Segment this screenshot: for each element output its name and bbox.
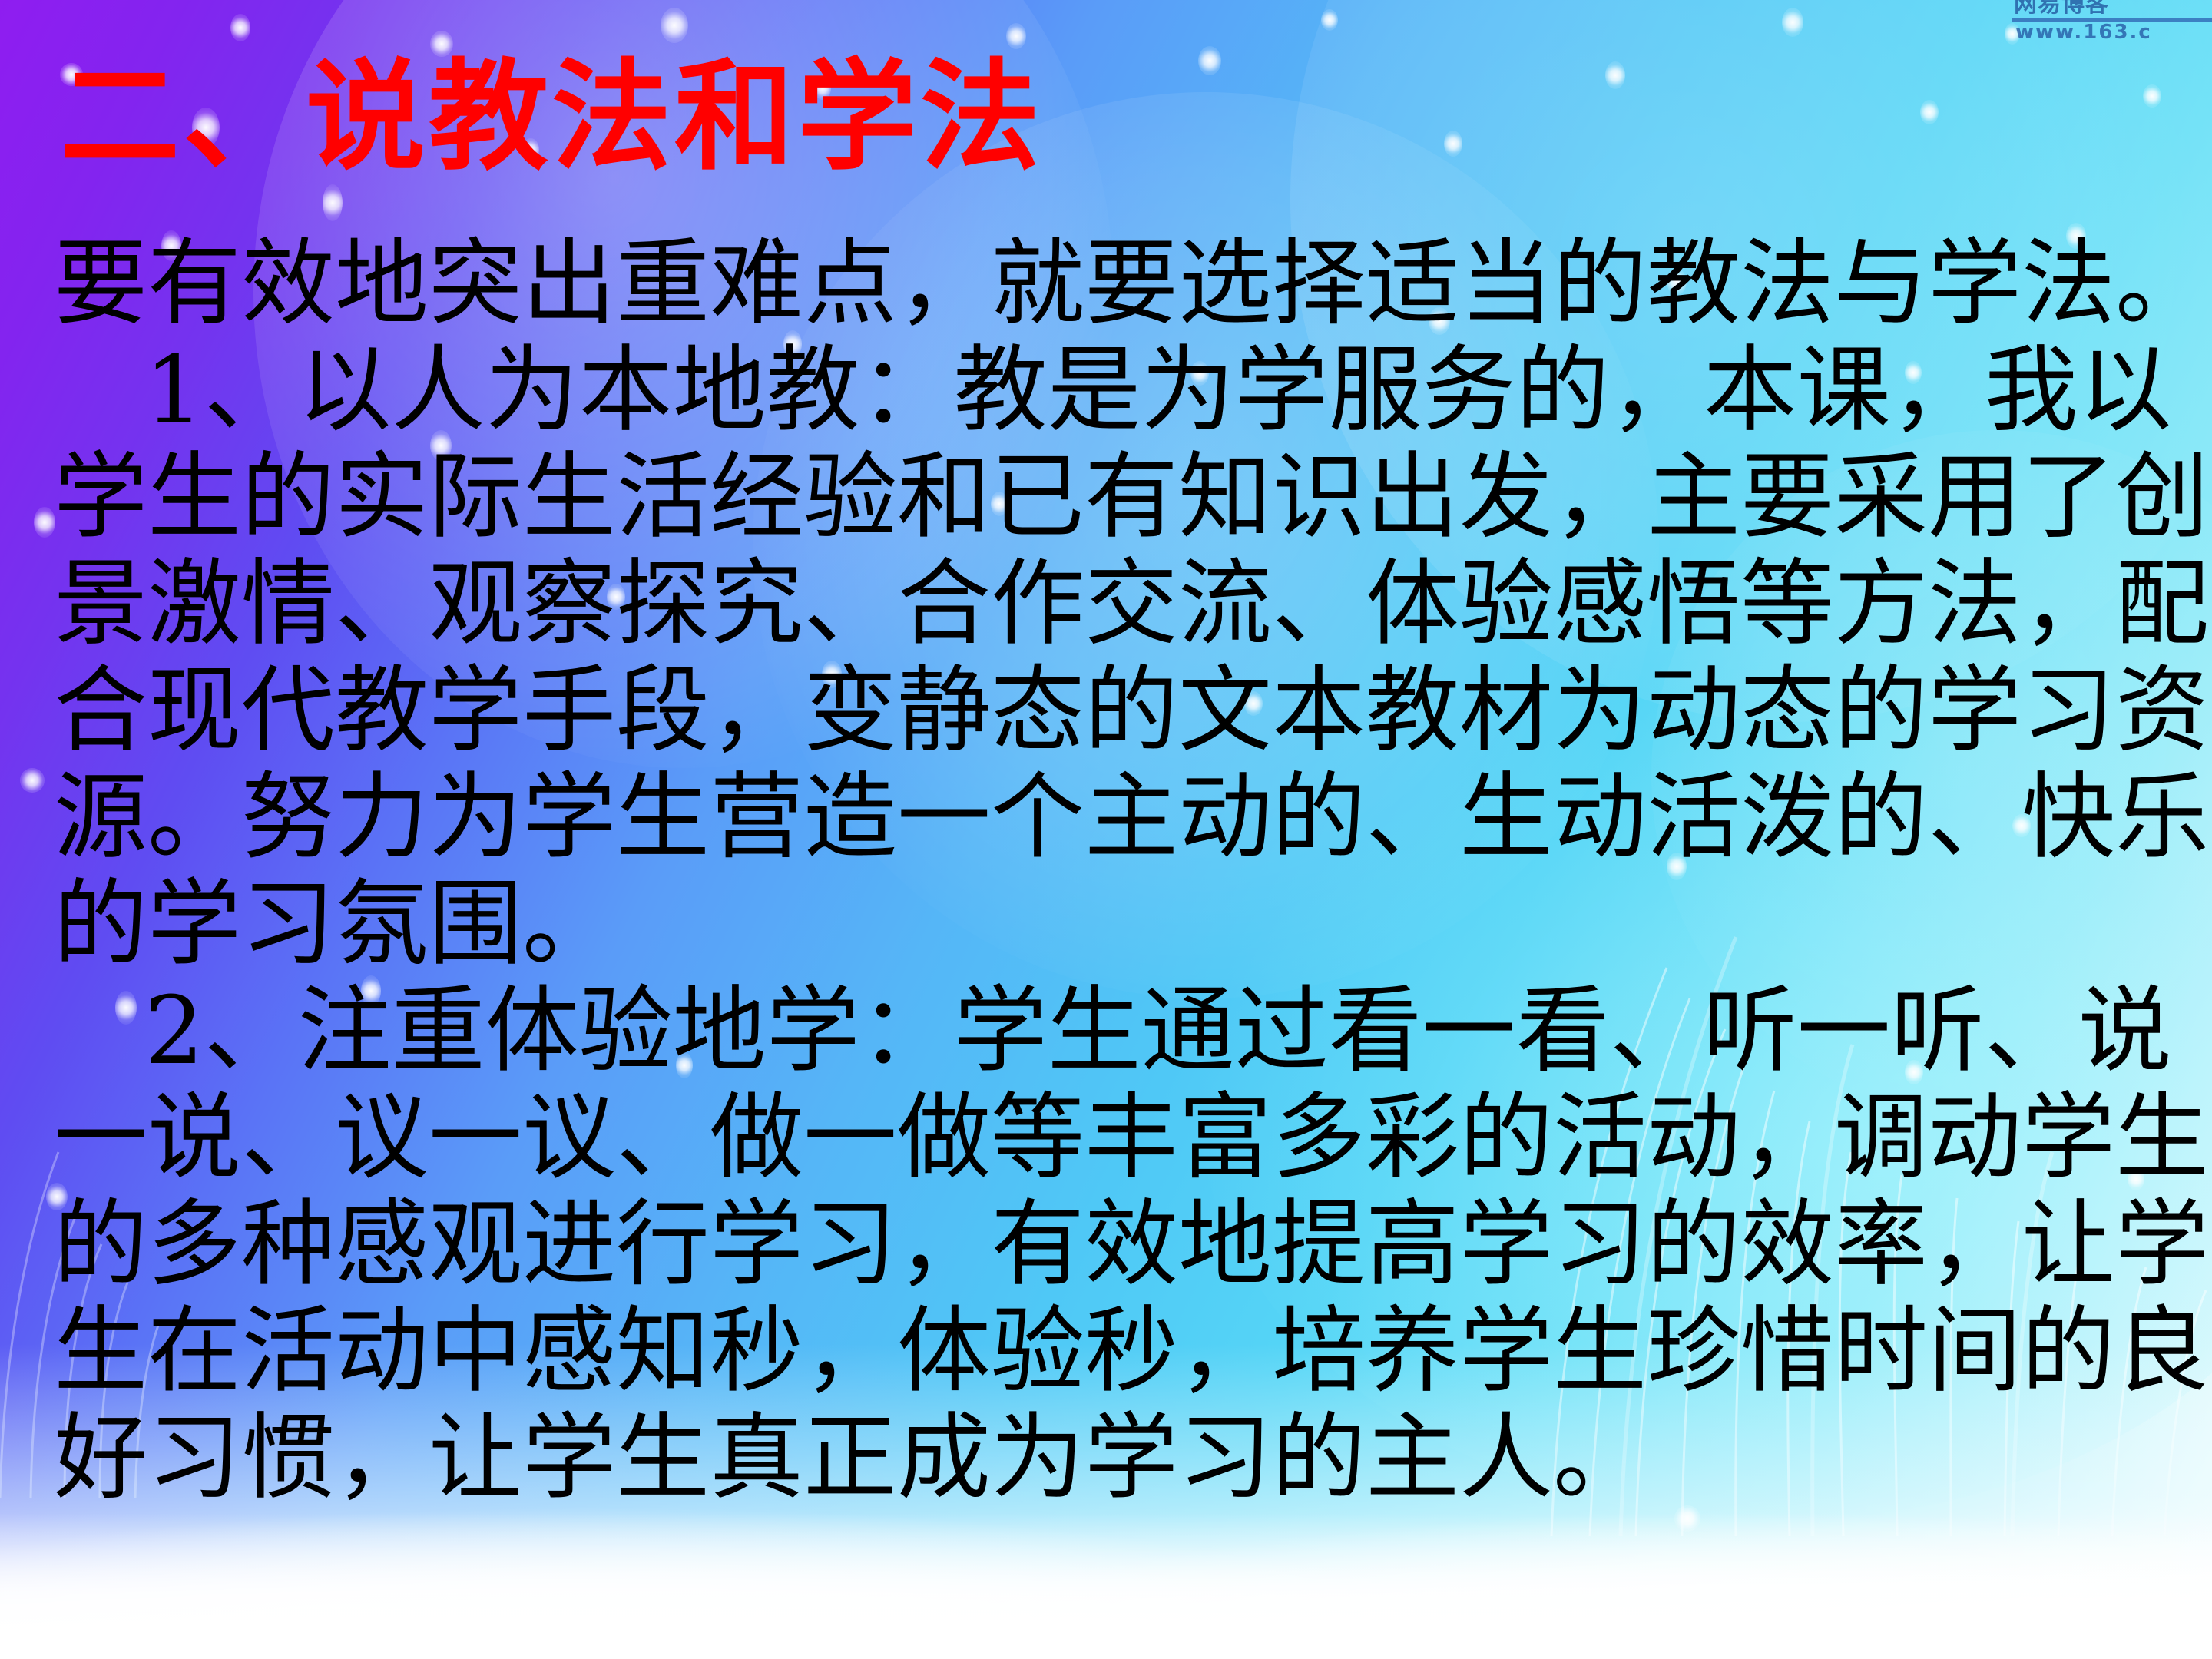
slide-body: 要有效地突出重难点，就要选择适当的教法与学法。1、以人为本地教：教是为学服务的，…	[54, 230, 2158, 1512]
body-line: 要有效地突出重难点，就要选择适当的教法与学法。	[54, 230, 2158, 337]
body-line: 学生的实际生活经验和已有知识出发，主要采用了创	[54, 444, 2158, 551]
body-line: 源。努力为学生营造一个主动的、生动活泼的、快乐	[54, 764, 2158, 871]
body-line: 合现代教学手段，变静态的文本教材为动态的学习资	[54, 657, 2158, 764]
body-line: 2、注重体验地学：学生通过看一看、听一听、说	[54, 978, 2158, 1084]
body-line: 1、以人为本地教：教是为学服务的，本课，我以	[54, 337, 2158, 444]
watermark-url: www.163.c	[1982, 22, 2212, 43]
body-line: 景激情、观察探究、合作交流、体验感悟等方法，配	[54, 551, 2158, 657]
slide-title: 二、说教法和学法	[60, 55, 1043, 177]
body-line: 的多种感观进行学习，有效地提高学习的效率，让学	[54, 1191, 2158, 1298]
paragraph-point-1: 1、以人为本地教：教是为学服务的，本课，我以学生的实际生活经验和已有知识出发，主…	[54, 337, 2158, 978]
body-line: 好习惯，让学生真正成为学习的主人。	[54, 1405, 2158, 1512]
paragraph-intro: 要有效地突出重难点，就要选择适当的教法与学法。	[54, 230, 2158, 337]
body-line: 一说、议一议、做一做等丰富多彩的活动，调动学生	[54, 1084, 2158, 1191]
body-line: 的学习氛围。	[54, 871, 2158, 978]
watermark: 网易博客 www.163.c	[1982, 0, 2212, 51]
presentation-slide: 网易博客 www.163.c 二、说教法和学法 要有效地突出重难点，就要选择适当…	[0, 0, 2212, 1659]
snow-ground-fade	[0, 1513, 2212, 1659]
watermark-top-text: 网易博客	[1982, 0, 2212, 17]
body-line: 生在活动中感知秒，体验秒，培养学生珍惜时间的良	[54, 1298, 2158, 1405]
paragraph-point-2: 2、注重体验地学：学生通过看一看、听一听、说一说、议一议、做一做等丰富多彩的活动…	[54, 978, 2158, 1512]
